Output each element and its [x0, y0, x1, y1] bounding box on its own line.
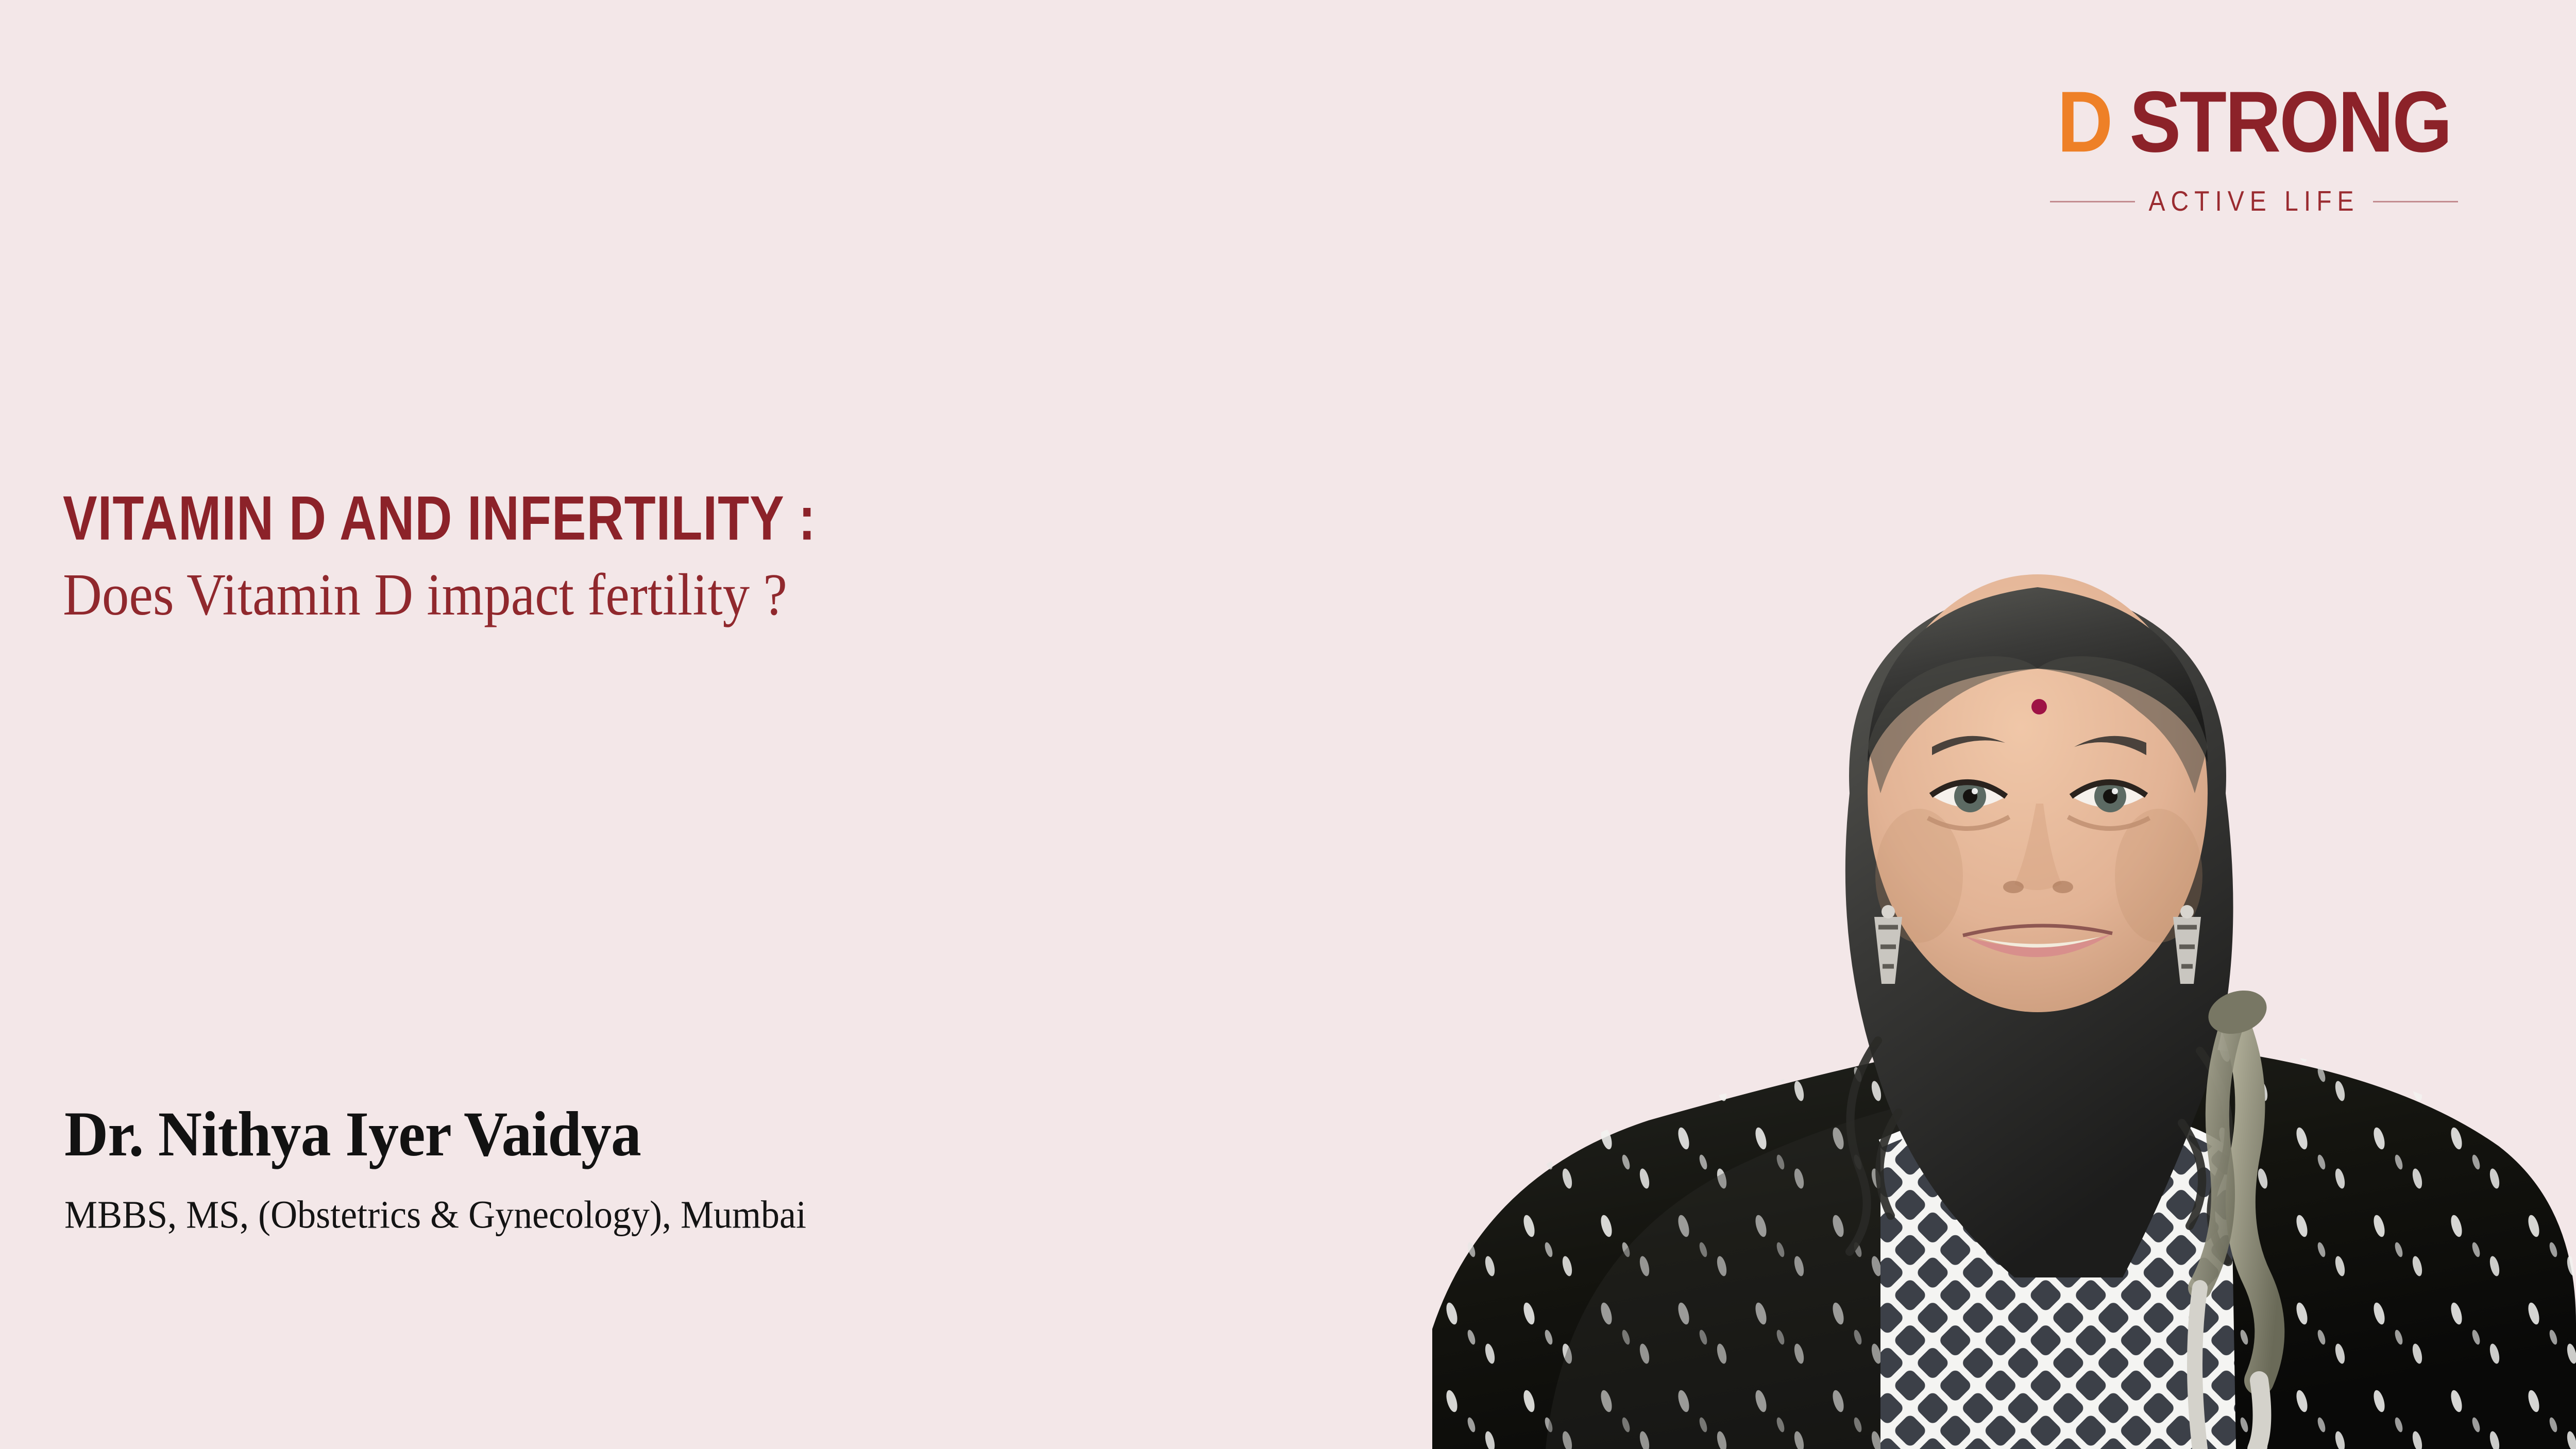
speaker-credentials: MBBS, MS, (Obstetrics & Gynecology), Mum…	[64, 1195, 1146, 1234]
presentation-slide: D STRONG ACTIVE LIFE VITAMIN D AND INFER…	[0, 0, 2576, 1449]
logo-wordmark-strong: STRONG	[2129, 78, 2451, 165]
bindi	[2031, 699, 2047, 714]
logo-wordmark: D STRONG	[2022, 88, 2486, 165]
tagline-rule-right	[2373, 201, 2458, 202]
face	[1868, 574, 2208, 1012]
speaker-portrait-photo	[1278, 505, 2576, 1449]
tagline-rule-left	[2050, 201, 2135, 202]
portrait-illustration	[1278, 505, 2576, 1449]
logo-tagline: ACTIVE LIFE	[2148, 185, 2359, 218]
speaker-block: Dr. Nithya Iyer Vaidya MBBS, MS, (Obstet…	[64, 1102, 1146, 1232]
speaker-name: Dr. Nithya Iyer Vaidya	[64, 1102, 1146, 1166]
brand-logo: D STRONG ACTIVE LIFE	[2022, 88, 2486, 227]
slide-subtitle: Does Vitamin D impact fertility ?	[63, 565, 1145, 624]
logo-mark-letter-d: D	[2057, 78, 2112, 165]
headline-block: VITAMIN D AND INFERTILITY : Does Vitamin…	[63, 487, 1145, 619]
slide-title: VITAMIN D AND INFERTILITY :	[63, 487, 1112, 550]
logo-tagline-row: ACTIVE LIFE	[2022, 187, 2486, 216]
